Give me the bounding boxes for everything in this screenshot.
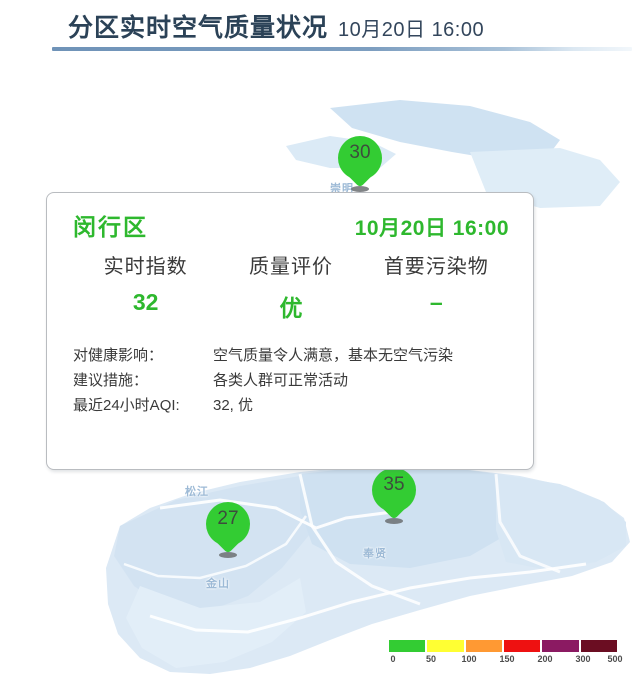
metrics-table: 实时指数 质量评价 首要污染物 32 优 – — [73, 250, 509, 323]
marker-value: 30 — [338, 142, 382, 164]
legend-band-moderate — [427, 640, 463, 652]
legend-bands — [389, 640, 617, 652]
legend-tick: 200 — [537, 654, 552, 664]
legend-tick: 100 — [461, 654, 476, 664]
marker-shadow — [385, 518, 403, 524]
marker-pin-icon: 27 — [206, 502, 250, 554]
detail-label-aqi24h: 最近24小时AQI: — [73, 395, 213, 417]
marker-pin-icon: 35 — [372, 468, 416, 520]
legend-tick: 150 — [499, 654, 514, 664]
metric-value-quality: 优 — [218, 289, 363, 323]
marker-value: 35 — [372, 474, 416, 496]
page-title: 分区实时空气质量状况 — [68, 8, 328, 44]
metric-header-quality: 质量评价 — [218, 250, 363, 289]
legend-band-good — [389, 640, 425, 652]
detail-row-health: 对健康影响： 空气质量令人满意，基本无空气污染 — [73, 345, 515, 367]
legend-tick: 300 — [575, 654, 590, 664]
card-header: 闵行区 10月20日 16:00 — [73, 208, 509, 242]
aqi-marker[interactable]: 30 — [338, 136, 382, 188]
aqi-marker[interactable]: 27 — [206, 502, 250, 554]
map-label: 金山 — [206, 575, 230, 591]
header-divider — [52, 47, 632, 51]
detail-row-aqi24h: 最近24小时AQI: 32, 优 — [73, 395, 515, 417]
detail-row-advice: 建议措施： 各类人群可正常活动 — [73, 370, 515, 392]
metric-value-aqi: 32 — [73, 289, 218, 323]
marker-pin-icon: 30 — [338, 136, 382, 188]
card-datetime: 10月20日 16:00 — [355, 212, 509, 242]
marker-shadow — [219, 552, 237, 558]
metric-header-pollutant: 首要污染物 — [364, 250, 509, 289]
detail-value-advice: 各类人群可正常活动 — [213, 370, 515, 392]
legend-band-hazardous — [581, 640, 617, 652]
metrics-value-row: 32 优 – — [73, 289, 509, 323]
details-list: 对健康影响： 空气质量令人满意，基本无空气污染 建议措施： 各类人群可正常活动 … — [73, 345, 515, 420]
metric-header-aqi: 实时指数 — [73, 250, 218, 289]
aqi-color-legend: 0 50 100 150 200 300 500 — [389, 640, 617, 668]
legend-tick: 0 — [390, 654, 395, 664]
map-label: 奉贤 — [363, 545, 387, 561]
legend-band-unhealthy-sensitive — [466, 640, 502, 652]
legend-ticks: 0 50 100 150 200 300 500 — [389, 654, 617, 668]
legend-band-very-unhealthy — [542, 640, 578, 652]
metrics-header-row: 实时指数 质量评价 首要污染物 — [73, 250, 509, 289]
page-header: 分区实时空气质量状况 10月20日 16:00 — [0, 0, 640, 56]
district-info-card[interactable]: 闵行区 10月20日 16:00 实时指数 质量评价 首要污染物 32 优 – … — [46, 192, 534, 470]
aqi-marker[interactable]: 35 — [372, 468, 416, 520]
map-label: 松江 — [185, 483, 209, 499]
metric-value-pollutant: – — [364, 289, 509, 323]
detail-value-health: 空气质量令人满意，基本无空气污染 — [213, 345, 515, 367]
detail-label-advice: 建议措施： — [73, 370, 213, 392]
legend-band-unhealthy — [504, 640, 540, 652]
header-datetime: 10月20日 16:00 — [338, 13, 484, 42]
legend-tick: 50 — [426, 654, 436, 664]
marker-value: 27 — [206, 508, 250, 530]
header-title-row: 分区实时空气质量状况 10月20日 16:00 — [68, 8, 484, 44]
detail-label-health: 对健康影响： — [73, 345, 213, 367]
district-name: 闵行区 — [73, 208, 148, 242]
legend-tick: 500 — [607, 654, 622, 664]
detail-value-aqi24h: 32, 优 — [213, 395, 515, 417]
